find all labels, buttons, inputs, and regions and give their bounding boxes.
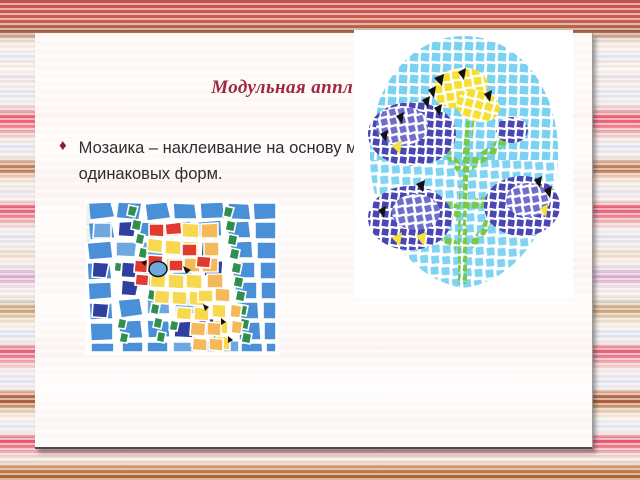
slide-content-card: Модульная аппликация ♦ Мозаика – наклеив… (35, 33, 593, 449)
bluebell-flower-mosaic-image (354, 30, 573, 298)
fish-mosaic-image: www.mosaic (85, 200, 279, 355)
slide-stage: Модульная аппликация ♦ Мозаика – наклеив… (0, 0, 640, 480)
diamond-bullet-icon: ♦ (59, 136, 67, 156)
